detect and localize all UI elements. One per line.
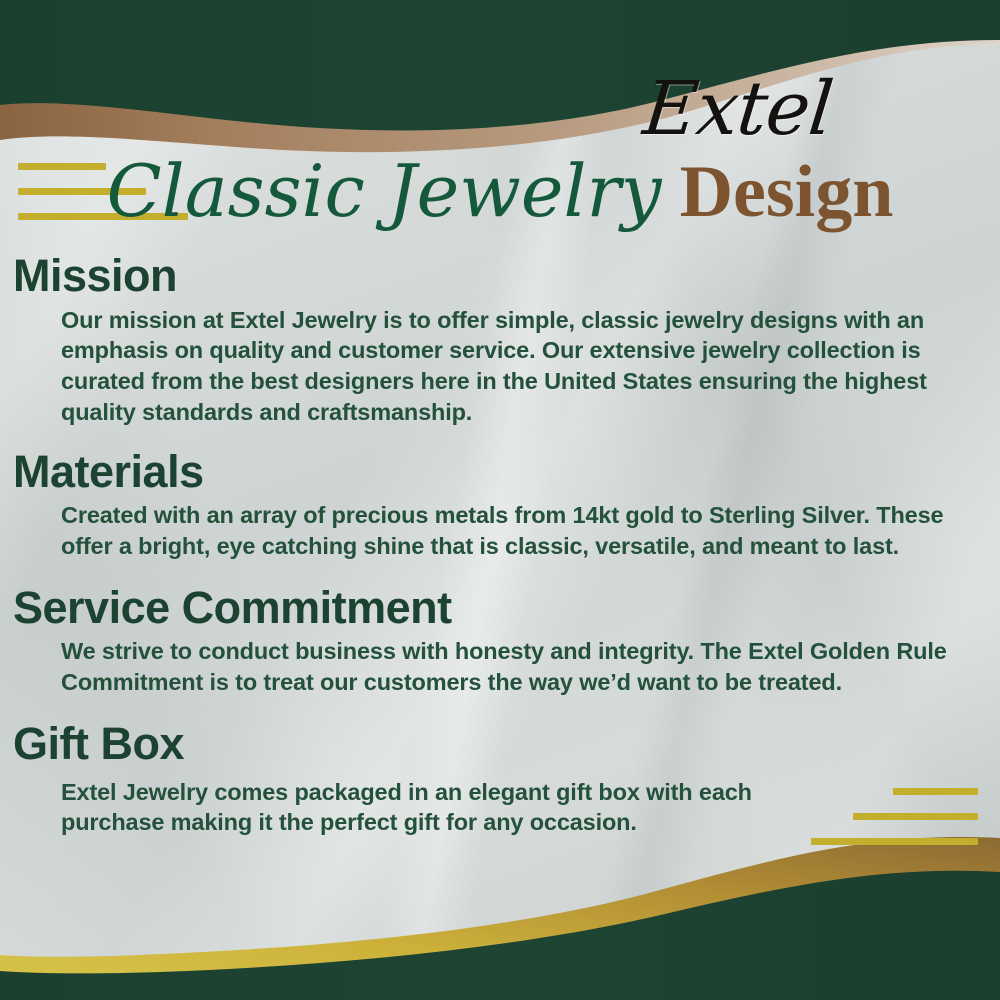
decorative-bars-bottom-right: [811, 788, 978, 863]
section-body-gift-box: Extel Jewelry comes packaged in an elega…: [61, 777, 761, 839]
section-mission: Mission Our mission at Extel Jewelry is …: [0, 252, 1000, 428]
gold-bar-short-icon: [893, 788, 978, 795]
page-title: Classic Jewelry Design: [0, 155, 1000, 255]
section-body-materials: Created with an array of precious metals…: [61, 500, 970, 562]
brand-logo-extel: Extel: [640, 72, 836, 146]
section-heading-gift-box: Gift Box: [13, 720, 1000, 769]
section-heading-materials: Materials: [13, 448, 1000, 497]
gold-bar-medium-icon: [853, 813, 978, 820]
section-heading-mission: Mission: [13, 252, 1000, 301]
section-service-commitment: Service Commitment We strive to conduct …: [0, 584, 1000, 698]
section-materials: Materials Created with an array of preci…: [0, 448, 1000, 562]
content-sections: Mission Our mission at Extel Jewelry is …: [0, 252, 1000, 852]
gold-bar-long-icon: [811, 838, 978, 845]
section-body-service-commitment: We strive to conduct business with hones…: [61, 636, 970, 698]
page-title-design: Design: [680, 155, 894, 229]
section-body-mission: Our mission at Extel Jewelry is to offer…: [61, 305, 970, 428]
section-heading-service-commitment: Service Commitment: [13, 584, 1000, 633]
page-title-classic-jewelry: Classic Jewelry: [107, 155, 680, 227]
poster-canvas: Extel Classic Jewelry Design Mission Our…: [0, 0, 1000, 1000]
